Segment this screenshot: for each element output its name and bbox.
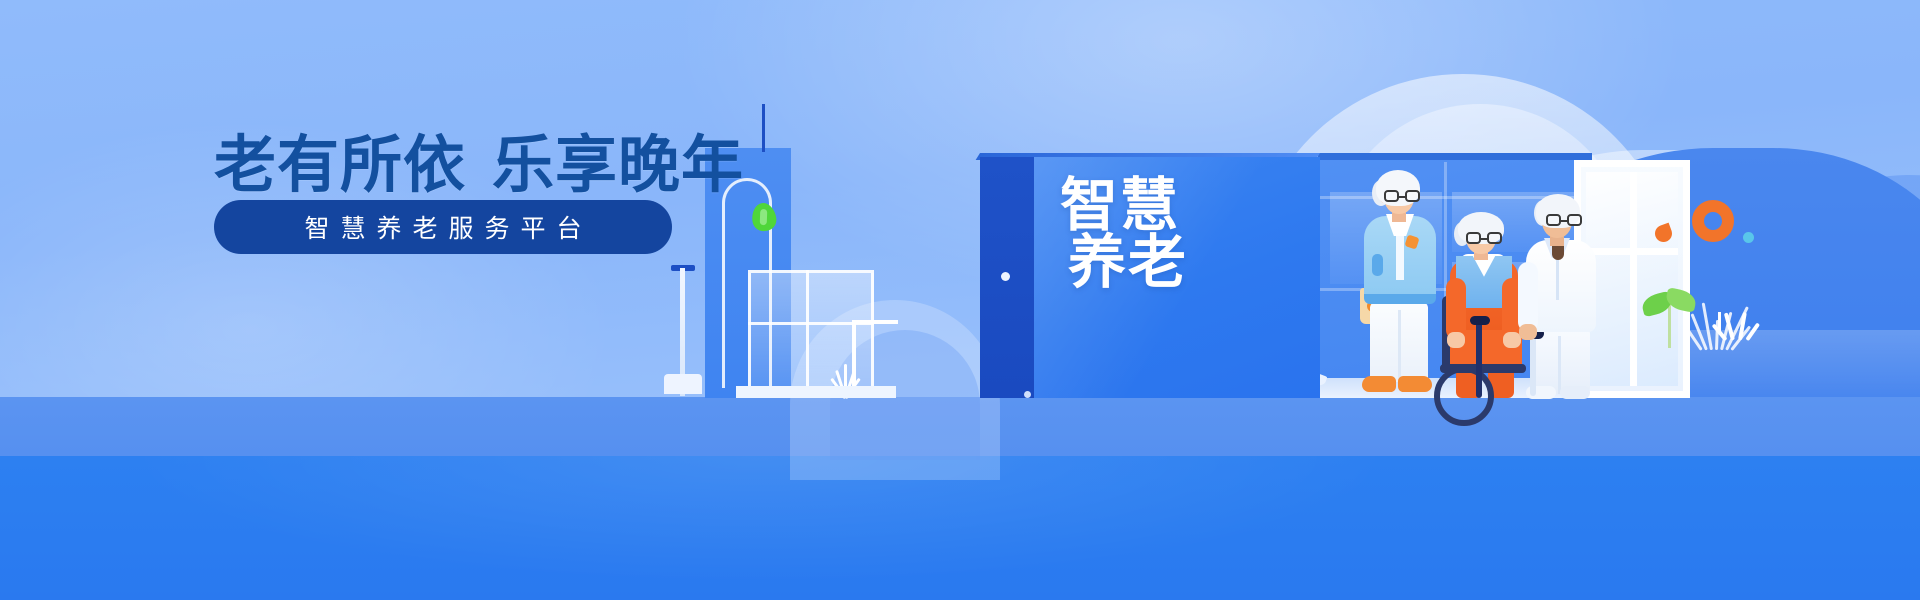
subtitle-pill[interactable]: 智慧养老服务平台 xyxy=(214,200,672,254)
arm-left xyxy=(1446,278,1466,340)
glasses-bridge xyxy=(1481,238,1487,240)
walking-cane-icon xyxy=(1530,336,1536,396)
cyan-dot-icon xyxy=(1743,232,1754,243)
headline-part-2: 乐享晚年 xyxy=(492,131,744,200)
shoe-right-icon xyxy=(1398,376,1432,392)
arm-left xyxy=(1518,262,1538,332)
hand-left xyxy=(1447,332,1465,348)
headline-part-1: 老有所依 xyxy=(214,131,466,200)
orange-ring-icon xyxy=(1692,200,1734,242)
coat-zipper xyxy=(1556,258,1559,300)
elderly-care-figures-group xyxy=(1330,150,1610,398)
wheelchair-wheel-icon xyxy=(1434,366,1494,426)
glasses-lens-left xyxy=(1546,214,1561,226)
card-title: 智慧 养老 xyxy=(1060,178,1290,292)
banner-root: 智慧 养老 xyxy=(0,0,1920,600)
card-dot-icon xyxy=(1001,272,1010,281)
wheelchair-push-bar-icon xyxy=(1476,320,1482,398)
card-title-line-1: 智慧 xyxy=(1060,178,1290,235)
tulip-petal-icon xyxy=(1738,312,1747,340)
lamp-base-icon xyxy=(664,374,702,394)
trouser-seam xyxy=(1398,310,1401,380)
glasses-bridge xyxy=(1561,220,1567,222)
building-mast-icon xyxy=(762,104,765,152)
pocket-icon xyxy=(1372,254,1383,276)
glasses-lens-right xyxy=(1567,214,1582,226)
glasses-lens-left xyxy=(1384,190,1399,202)
card-title-line-2: 养老 xyxy=(1060,235,1290,292)
ledge-icon xyxy=(736,386,896,398)
glasses-bridge xyxy=(1399,196,1405,198)
tulip-plant-icon xyxy=(1718,312,1752,348)
card-dot-icon xyxy=(1024,391,1031,398)
shoe-right-icon xyxy=(1560,386,1590,399)
glasses-lens-left xyxy=(1466,232,1481,244)
cardigan-hem xyxy=(1364,294,1436,304)
hand-left xyxy=(1519,324,1537,340)
shelf-icon xyxy=(852,320,898,324)
wheelchair-grip-icon xyxy=(1470,316,1490,325)
glasses-lens-right xyxy=(1405,190,1420,202)
glass-mullion-vertical-icon xyxy=(806,270,809,396)
trouser-seam xyxy=(1558,336,1561,394)
glasses-lens-right xyxy=(1487,232,1502,244)
shoe-left-icon xyxy=(1362,376,1396,392)
page-title: 老有所依乐享晚年 xyxy=(214,114,744,204)
subtitle-pill-label: 智慧养老服务平台 xyxy=(293,209,592,245)
